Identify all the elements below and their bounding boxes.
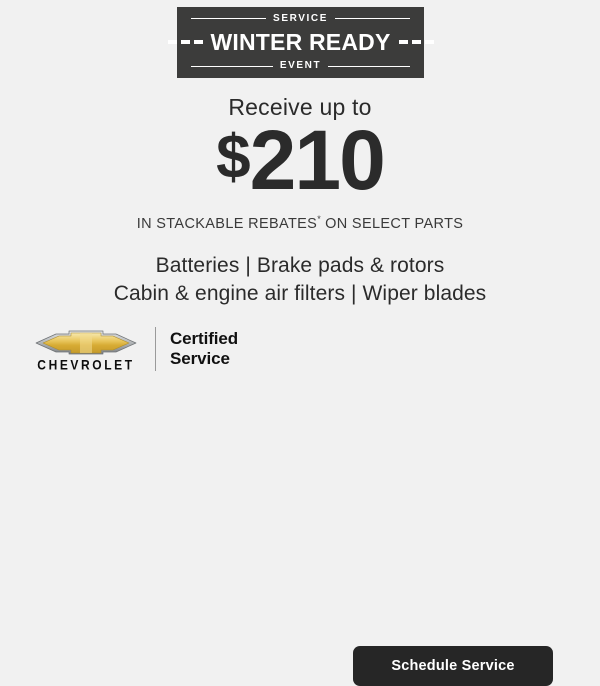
offer-amount: $210 (0, 118, 600, 202)
rebate-disclaimer: IN STACKABLE REBATES* ON SELECT PARTS (0, 215, 600, 231)
currency-symbol: $ (216, 123, 249, 192)
parts-line-2: Cabin & engine air filters | Wiper blade… (0, 280, 600, 308)
dash-mark (168, 40, 177, 44)
rule-line-right (335, 18, 410, 19)
rule-line-left (191, 18, 266, 19)
banner-title-row: WINTER READY (185, 28, 417, 58)
promo-advertisement: SERVICE WINTER READY EVENT (0, 0, 600, 400)
schedule-service-button[interactable]: Schedule Service (353, 646, 553, 686)
dash-mark (194, 40, 203, 44)
banner-bottom-rule: EVENT (191, 58, 410, 74)
event-banner-inner: SERVICE WINTER READY EVENT (177, 7, 424, 78)
banner-title: WINTER READY (203, 31, 399, 54)
certified-service-label: Certified Service (170, 329, 238, 369)
chevrolet-wordmark: CHEVROLET (37, 358, 134, 371)
banner-top-label: SERVICE (266, 14, 335, 24)
rule-line-right (328, 66, 410, 67)
eligible-parts-list: Batteries | Brake pads & rotors Cabin & … (0, 252, 600, 308)
event-banner: SERVICE WINTER READY EVENT (177, 7, 424, 78)
rebate-text-after: ON SELECT PARTS (321, 216, 464, 232)
parts-line-1: Batteries | Brake pads & rotors (0, 252, 600, 280)
ad-footer: CHEVROLET Certified Service Schedule Ser… (0, 318, 600, 380)
rule-line-left (191, 66, 273, 67)
certified-line-1: Certified (170, 329, 238, 349)
certified-line-2: Service (170, 349, 238, 369)
banner-bottom-label: EVENT (273, 61, 328, 71)
lockup-divider (155, 327, 156, 371)
amount-value: 210 (250, 113, 384, 207)
dash-mark (181, 40, 190, 44)
dashes-left-icon (168, 40, 203, 44)
dash-mark (425, 40, 434, 44)
dashes-right-icon (399, 40, 434, 44)
banner-top-rule: SERVICE (191, 11, 410, 27)
chevrolet-bowtie-icon (34, 328, 138, 356)
dash-mark (412, 40, 421, 44)
brand-lockup: CHEVROLET Certified Service (33, 320, 238, 378)
dash-mark (399, 40, 408, 44)
rebate-text-before: IN STACKABLE REBATES (137, 216, 318, 232)
chevrolet-logo: CHEVROLET (33, 328, 139, 371)
